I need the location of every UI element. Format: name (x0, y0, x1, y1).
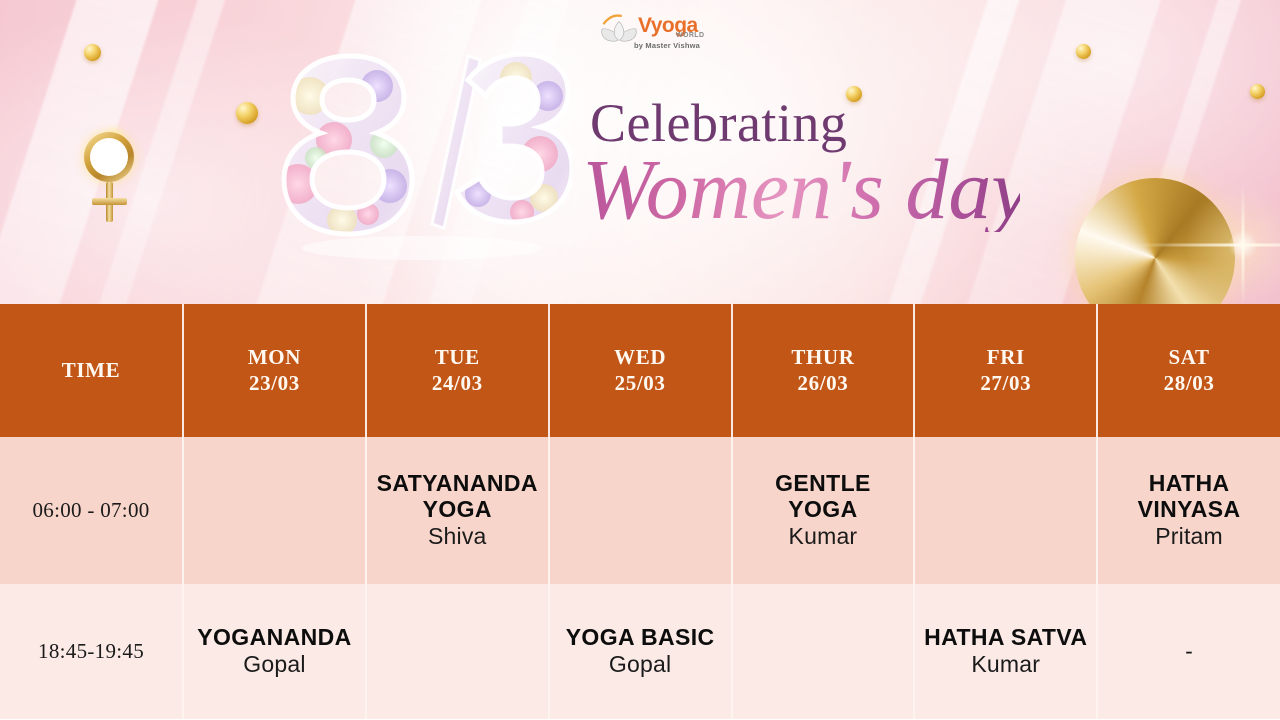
class-name: SATYANANDA YOGA (373, 471, 542, 523)
class-cell-sat[interactable]: - (1097, 584, 1280, 719)
class-cell-wed[interactable] (549, 437, 732, 584)
class-name: YOGANANDA (190, 625, 359, 651)
column-header-date: 23/03 (184, 371, 365, 397)
column-header-fri: FRI 27/03 (914, 304, 1097, 437)
class-cell-tue[interactable] (366, 584, 549, 719)
light-streak (42, 0, 264, 304)
column-header-date: 25/03 (550, 371, 731, 397)
column-header-label: SAT (1098, 345, 1280, 371)
page-root: Vyoga WORLD by Master Vishwa Celebrating… (0, 0, 1280, 720)
table-row: 06:00 - 07:00 SATYANANDA YOGA Shiva GENT… (0, 437, 1280, 584)
column-header-label: FRI (915, 345, 1096, 371)
gold-ring-icon (1075, 178, 1235, 304)
class-teacher: Shiva (373, 523, 542, 550)
class-teacher: Gopal (556, 651, 725, 678)
class-cell-thur[interactable]: GENTLE YOGA Kumar (732, 437, 915, 584)
class-teacher: Kumar (739, 523, 908, 550)
time-slot-cell: 18:45-19:45 (0, 584, 183, 719)
column-header-wed: WED 25/03 (549, 304, 732, 437)
gold-sphere-icon (1250, 84, 1265, 99)
class-cell-fri[interactable]: HATHA SATVA Kumar (914, 584, 1097, 719)
class-name: HATHA SATVA (921, 625, 1090, 651)
column-header-date: 28/03 (1098, 371, 1280, 397)
lotus-icon (598, 14, 640, 44)
table-header-row: TIME MON 23/03 TUE 24/03 WED 25/03 THUR … (0, 304, 1280, 437)
gold-sphere-icon (84, 44, 101, 61)
class-name: HATHA VINYASA (1104, 471, 1274, 523)
column-header-tue: TUE 24/03 (366, 304, 549, 437)
class-cell-sat[interactable]: HATHA VINYASA Pritam (1097, 437, 1280, 584)
column-header-date: 26/03 (733, 371, 914, 397)
column-header-label: THUR (733, 345, 914, 371)
class-cell-thur[interactable] (732, 584, 915, 719)
class-schedule-table: TIME MON 23/03 TUE 24/03 WED 25/03 THUR … (0, 304, 1280, 719)
logo-tagline: by Master Vishwa (634, 41, 700, 50)
column-header-sat: SAT 28/03 (1097, 304, 1280, 437)
class-cell-fri[interactable] (914, 437, 1097, 584)
column-header-label: TIME (0, 358, 182, 384)
class-teacher: Kumar (921, 651, 1090, 678)
womens-day-banner: Vyoga WORLD by Master Vishwa Celebrating… (0, 0, 1280, 304)
table-row: 18:45-19:45 YOGANANDA Gopal YOGA BASIC G… (0, 584, 1280, 719)
column-header-mon: MON 23/03 (183, 304, 366, 437)
headline-womens-day: Women's day (582, 146, 1020, 232)
banner-headline: Celebrating Women's day (590, 96, 1020, 232)
class-teacher: - (1104, 638, 1274, 665)
column-header-date: 27/03 (915, 371, 1096, 397)
column-header-label: TUE (367, 345, 548, 371)
class-name: YOGA BASIC (556, 625, 725, 651)
gold-sphere-icon (236, 102, 258, 124)
class-cell-mon[interactable] (183, 437, 366, 584)
class-teacher: Pritam (1104, 523, 1274, 550)
vyoga-logo[interactable]: Vyoga WORLD by Master Vishwa (598, 8, 706, 54)
venus-icon (78, 132, 140, 228)
gold-sphere-icon (1076, 44, 1091, 59)
column-header-date: 24/03 (367, 371, 548, 397)
class-cell-tue[interactable]: SATYANANDA YOGA Shiva (366, 437, 549, 584)
class-cell-wed[interactable]: YOGA BASIC Gopal (549, 584, 732, 719)
logo-world: WORLD (676, 32, 704, 39)
class-name: GENTLE YOGA (739, 471, 908, 523)
class-cell-mon[interactable]: YOGANANDA Gopal (183, 584, 366, 719)
class-teacher: Gopal (190, 651, 359, 678)
column-header-time: TIME (0, 304, 183, 437)
column-header-label: WED (550, 345, 731, 371)
column-header-label: MON (184, 345, 365, 371)
time-slot-cell: 06:00 - 07:00 (0, 437, 183, 584)
date-numerals-83 (272, 34, 572, 284)
column-header-thur: THUR 26/03 (732, 304, 915, 437)
